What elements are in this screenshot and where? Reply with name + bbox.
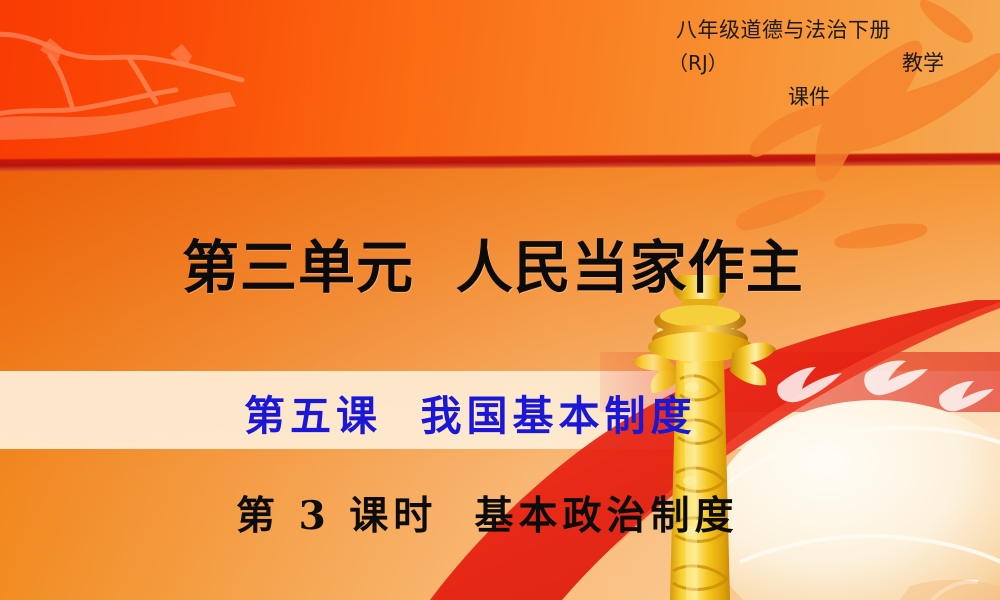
red-flag-icon xyxy=(430,300,1000,600)
great-wall-icon xyxy=(0,10,400,160)
lesson-title: 第五课 我国基本制度 xyxy=(244,382,697,442)
courseware-label: 课件 xyxy=(788,81,830,111)
presentation-slide: 八年级道德与法治下册 （RJ） 教学 课件 第三单元 人民当家作主 第五课 我国… xyxy=(0,0,1000,600)
edition-label: （RJ） xyxy=(668,47,728,76)
textbook-line: 八年级道德与法治下册 xyxy=(676,14,891,44)
unit-title: 第三单元 人民当家作主 xyxy=(182,222,804,304)
red-divider-bar xyxy=(0,152,1000,172)
globe-earth-icon xyxy=(700,390,1000,600)
white-gull-silhouettes-icon xyxy=(770,355,1000,435)
period-title: 第 3 课时 基本政治制度 xyxy=(236,485,738,541)
teaching-label: 教学 xyxy=(902,47,944,77)
